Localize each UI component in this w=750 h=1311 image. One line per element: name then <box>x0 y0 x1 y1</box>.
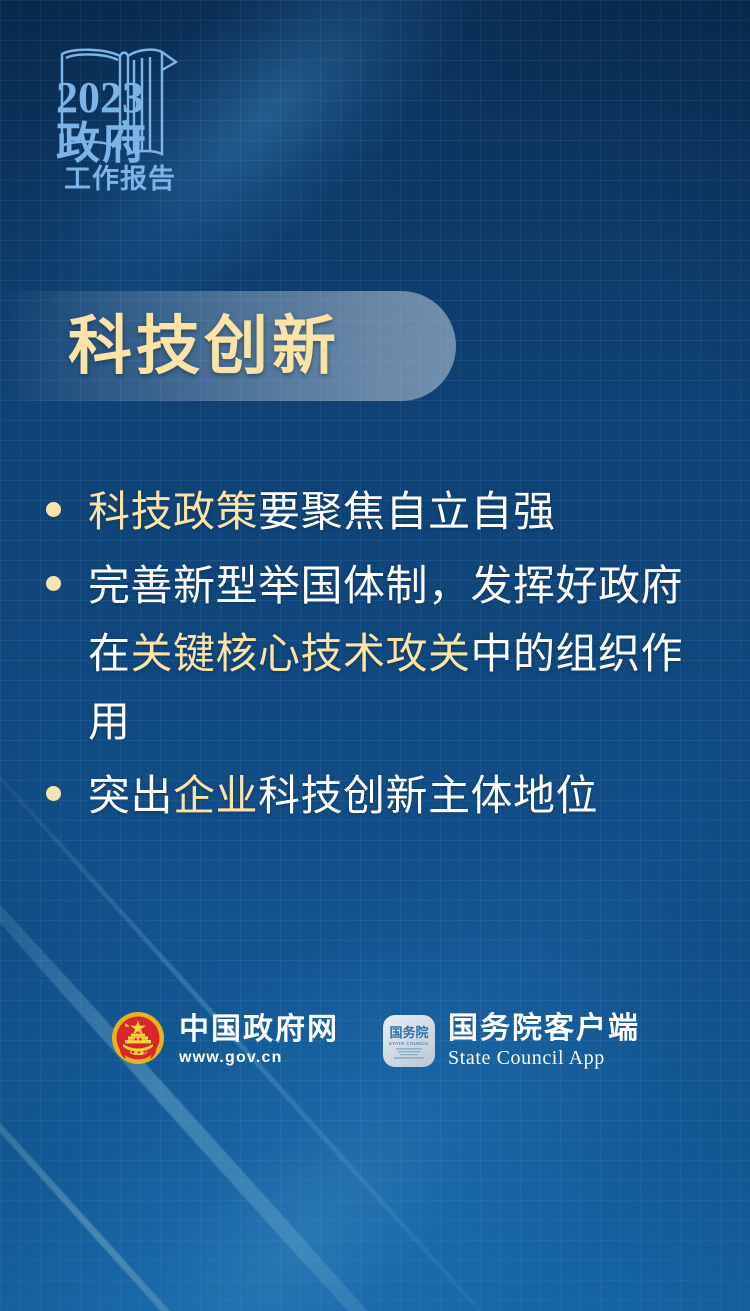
bullet-dot-icon <box>46 576 61 591</box>
bullet-dot-icon <box>46 786 61 801</box>
bullet-text: 科技政策要聚焦自立自强 <box>88 478 718 546</box>
bullet-segment-highlight: 企业 <box>173 772 258 819</box>
footer-brand-bar: 中国政府网 www.gov.cn 国务院 STATE COUNCIL <box>0 1010 750 1071</box>
bullet-segment-highlight: 关键核心技术攻关 <box>131 630 471 677</box>
logo-year: 2023 <box>56 73 144 122</box>
list-item: 完善新型举国体制，发挥好政府在关键核心技术攻关中的组织作用 <box>46 552 718 756</box>
brand-name-cn: 国务院客户端 <box>448 1012 640 1046</box>
list-item: 科技政策要聚焦自立自强 <box>46 478 718 546</box>
brand-name-sub: State Council App <box>448 1046 640 1070</box>
bullet-segment-plain: 科技创新主体地位 <box>258 772 598 819</box>
national-emblem-icon <box>110 1010 166 1071</box>
state-council-app-icon: 国务院 STATE COUNCIL <box>383 1015 435 1067</box>
logo-line1: 政府 <box>56 119 148 168</box>
bullet-segment-highlight: 科技政策 <box>88 488 258 535</box>
brand-words: 中国政府网 www.gov.cn <box>179 1013 339 1069</box>
brand-name-cn: 中国政府网 <box>179 1013 339 1047</box>
poster-root: 2023 政府 工作报告 科技创新 科技政策要聚焦自立自强 完善新型举国体制，发… <box>0 0 750 1311</box>
brand-state-council-app[interactable]: 国务院 STATE COUNCIL 国务院客户端 State Council A… <box>383 1012 640 1070</box>
logo-line2: 工作报告 <box>64 164 176 192</box>
brand-gov-cn[interactable]: 中国政府网 www.gov.cn <box>110 1010 339 1071</box>
page-title: 科技创新 <box>68 300 340 392</box>
open-book-icon: 2023 政府 工作报告 <box>42 36 210 192</box>
list-item: 突出企业科技创新主体地位 <box>46 762 718 830</box>
app-icon-label: 国务院 <box>389 1025 428 1040</box>
bullet-text: 突出企业科技创新主体地位 <box>88 762 718 830</box>
bullet-segment-plain: 突出 <box>88 772 173 819</box>
report-logo: 2023 政府 工作报告 <box>42 36 210 192</box>
brand-name-sub: www.gov.cn <box>179 1047 339 1069</box>
brand-words: 国务院客户端 State Council App <box>448 1012 640 1070</box>
bullet-segment-plain: 要聚焦自立自强 <box>258 488 556 535</box>
bullet-text: 完善新型举国体制，发挥好政府在关键核心技术攻关中的组织作用 <box>88 552 718 756</box>
bullet-dot-icon <box>46 502 61 517</box>
bullet-list: 科技政策要聚焦自立自强 完善新型举国体制，发挥好政府在关键核心技术攻关中的组织作… <box>46 478 718 836</box>
app-icon-sublabel: STATE COUNCIL <box>389 1041 429 1046</box>
